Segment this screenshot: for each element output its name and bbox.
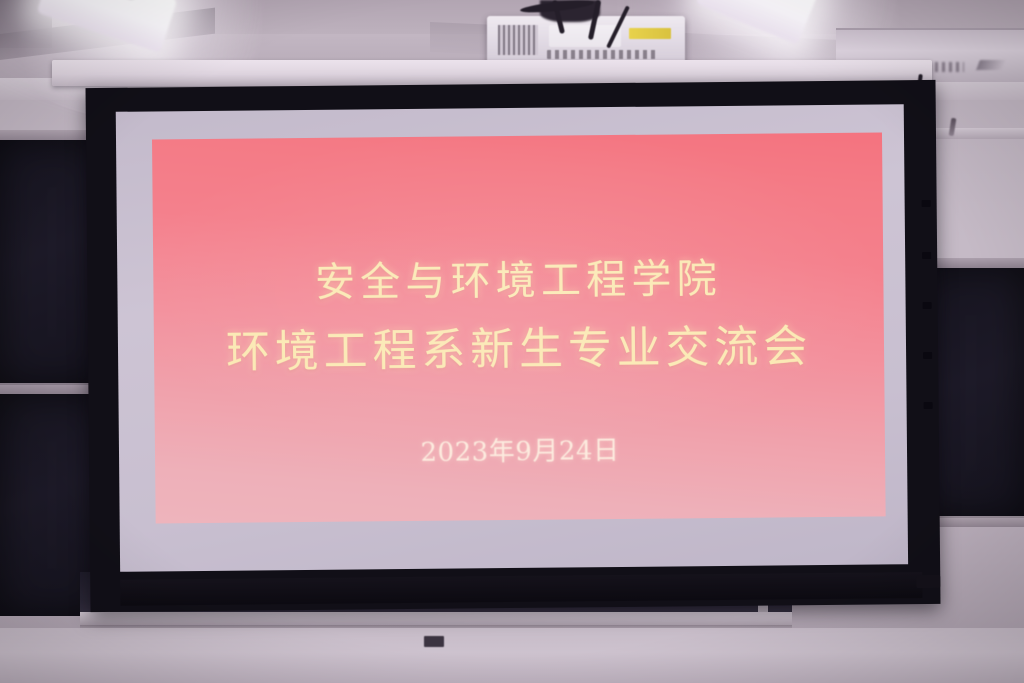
chalk-ledge: [80, 612, 792, 626]
projector-vent-grille: [498, 25, 538, 55]
screen-clip-5: [924, 402, 933, 409]
projector-brand-text: [547, 50, 657, 59]
slide-content: 安全与环境工程学院 环境工程系新生专业交流会 2023年9月24日: [152, 132, 886, 523]
projection-screen-surface: 安全与环境工程学院 环境工程系新生专业交流会 2023年9月24日: [116, 104, 908, 572]
screen-clip-1: [922, 200, 931, 207]
board-eraser: [424, 636, 444, 647]
slide-title-line-1: 安全与环境工程学院: [315, 258, 722, 304]
projection-screen[interactable]: 安全与环境工程学院 环境工程系新生专业交流会 2023年9月24日: [86, 80, 941, 612]
lower-wall-band: [0, 628, 1024, 683]
screen-pull-handle[interactable]: [916, 575, 940, 588]
screen-weight-bar: [120, 572, 922, 606]
projector-warning-label: [629, 28, 671, 39]
ac-logo-mark: [976, 60, 1006, 70]
screen-clip-4: [923, 352, 932, 359]
slide-title-line-2: 环境工程系新生专业交流会: [226, 324, 813, 376]
projected-slide: 安全与环境工程学院 环境工程系新生专业交流会 2023年9月24日: [152, 132, 886, 523]
screen-clip-3: [923, 302, 932, 309]
classroom-scene: 安全与环境工程学院 环境工程系新生专业交流会 2023年9月24日: [0, 0, 1024, 683]
slide-date: 2023年9月24日: [420, 430, 619, 469]
screen-clip-2: [922, 252, 931, 259]
